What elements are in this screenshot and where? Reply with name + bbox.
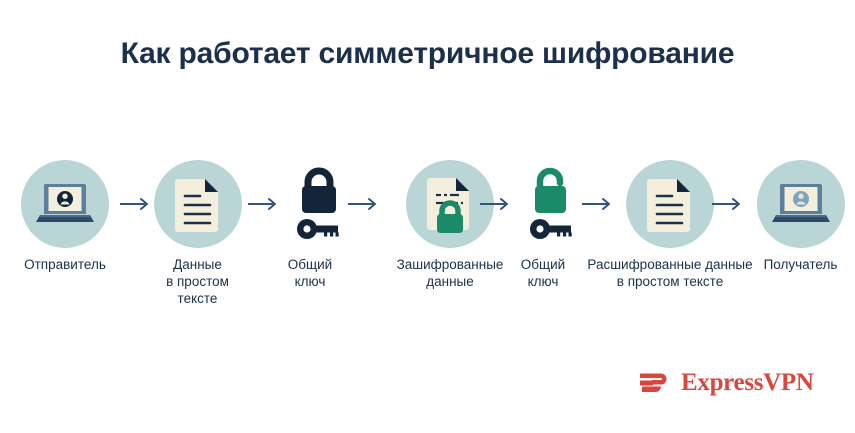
node-label: Получатель (748, 256, 853, 273)
expressvpn-logo: ExpressVPN (638, 368, 814, 398)
brand-name: ExpressVPN (681, 369, 814, 397)
node-label: Данные в простом тексте (150, 256, 245, 307)
expressvpn-e-mark (638, 368, 672, 398)
node-receiver: Получатель (748, 160, 853, 273)
node-label: Расшифрованные данные в простом тексте (575, 256, 765, 290)
node-label: Общий ключ (508, 256, 578, 290)
sender-circle (21, 160, 109, 248)
node-shared-key-decrypt: Общий ключ (508, 160, 578, 290)
node-label: Отправитель (10, 256, 120, 273)
node-plaintext: Данные в простом тексте (150, 160, 245, 307)
node-label: Зашифрованные данные (375, 256, 525, 290)
node-label: Общий ключ (275, 256, 345, 290)
node-sender: Отправитель (10, 160, 120, 273)
node-shared-key-encrypt: Общий ключ (275, 160, 345, 290)
laptop-user-icon (757, 160, 845, 248)
document-icon (154, 160, 242, 248)
arrow-6 (712, 196, 746, 212)
plaintext-circle (154, 160, 242, 248)
decrypted-circle (626, 160, 714, 248)
document-icon (626, 160, 714, 248)
laptop-user-icon (21, 160, 109, 248)
node-decrypted: Расшифрованные данные в простом тексте (575, 160, 765, 290)
receiver-circle (757, 160, 845, 248)
encryption-flow-diagram: Отправитель Данные в простом те (0, 160, 855, 295)
arrow-1 (120, 196, 154, 212)
node-encrypted: Зашифрованные данные (375, 160, 525, 290)
page-title: Как работает симметричное шифрование (0, 37, 855, 71)
